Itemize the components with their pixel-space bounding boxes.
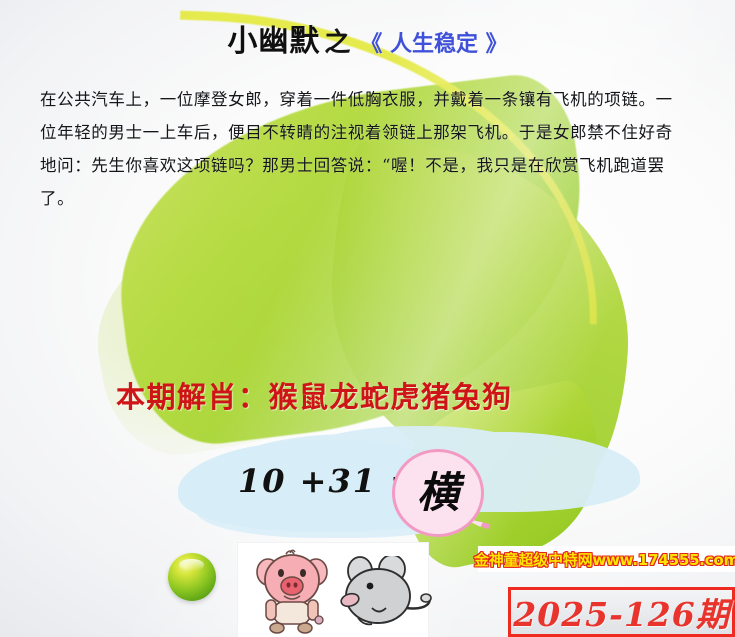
pig-illustration	[250, 548, 334, 636]
issue-number-box: 2025-126期	[508, 587, 735, 637]
site-watermark: 金神童超级中特网www.174555.com	[478, 546, 735, 572]
answer-bubble: 横	[392, 449, 484, 537]
pale-leaf-shape	[78, 188, 413, 467]
story-line: 在公共汽车上，一位摩登女郎，穿着一件低胸衣服，并戴着一条镶有飞机的项链。一	[40, 83, 700, 116]
mouse-illustration	[336, 556, 432, 634]
story-line: 了。	[40, 182, 700, 215]
story-line: 地问：先生你喜欢这项链吗？那男士回答说：“喔！不是，我只是在欣赏飞机跑道罢	[40, 149, 700, 182]
page-title: 小幽默之《 人生稳定 》	[0, 16, 735, 60]
zodiac-hint-text: 本期解肖：猴鼠龙蛇虎猪兔狗	[116, 374, 513, 416]
story-line: 位年轻的男士一上车后，便目不转睛的注视着领链上那架飞机。于是女郎禁不住好奇	[40, 116, 700, 149]
story-paragraph: 在公共汽车上，一位摩登女郎，穿着一件低胸衣服，并戴着一条镶有飞机的项链。一 位年…	[40, 83, 700, 215]
issue-number-text: 2025-126期	[513, 588, 729, 636]
title-main-text: 小幽默	[227, 24, 320, 59]
green-ball-icon	[168, 553, 216, 601]
answer-character: 横	[417, 472, 459, 514]
title-subtitle-text: 《 人生稳定 》	[360, 32, 507, 57]
site-watermark-text: 金神童超级中特网www.174555.com	[474, 549, 735, 570]
poster-canvas: 小幽默之《 人生稳定 》 在公共汽车上，一位摩登女郎，穿着一件低胸衣服，并戴着一…	[0, 0, 735, 637]
title-connector-text: 之	[324, 28, 350, 58]
